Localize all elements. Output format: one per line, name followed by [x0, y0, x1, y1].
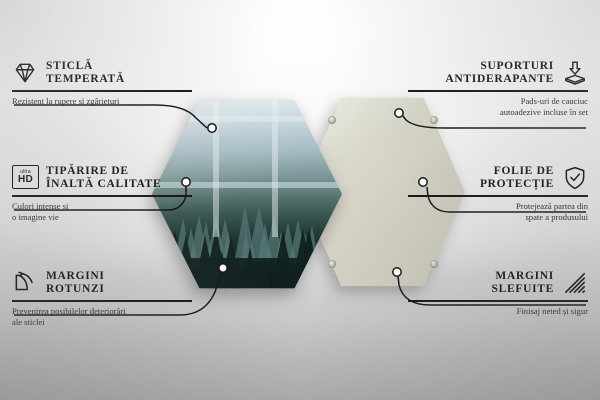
feature-divider — [12, 195, 192, 197]
feature-description: Culori intense și o imagine vie — [12, 201, 192, 223]
diamond-icon — [12, 60, 38, 86]
feature-header: MARGINI SLEFUITE — [408, 270, 588, 296]
connector-right-1 — [403, 116, 586, 128]
feature-description: Pads-uri de cauciuc autoadezive incluse … — [408, 96, 588, 118]
infographic-canvas: STICLĂ TEMPERATĂ Rezistent la rupere și … — [0, 0, 600, 400]
feature-divider — [408, 90, 588, 92]
feature-callout-antislip-pads: SUPORTURI ANTIDERAPANTE Pads-uri de cauc… — [408, 60, 588, 118]
feature-callout-rounded-edges: MARGINI ROTUNZI Prevenirea posibilelor d… — [12, 270, 192, 328]
connector-left-1 — [14, 105, 207, 128]
feature-callout-tempered-glass: STICLĂ TEMPERATĂ Rezistent la rupere și … — [12, 60, 192, 107]
connector-dot-left-1 — [208, 124, 216, 132]
feature-header: ultra HD TIPĂRIRE DE ÎNALTĂ CALITATE — [12, 165, 192, 191]
feature-header: SUPORTURI ANTIDERAPANTE — [408, 60, 588, 86]
ultra-hd-badge-icon: ultra HD — [12, 165, 38, 191]
feature-title: SUPORTURI ANTIDERAPANTE — [445, 60, 554, 86]
feature-description: Rezistent la rupere și zgârieturi — [12, 96, 192, 107]
feature-title: STICLĂ TEMPERATĂ — [46, 60, 125, 86]
feature-description: Protejează partea din spate a produsului — [408, 201, 588, 223]
feature-title: MARGINI SLEFUITE — [492, 270, 554, 296]
feature-callout-protective-film: FOLIE DE PROTECȚIE Protejează partea din… — [408, 165, 588, 223]
rounded-corner-icon — [12, 270, 38, 296]
feature-callout-hd-printing: ultra HD TIPĂRIRE DE ÎNALTĂ CALITATE Cul… — [12, 165, 192, 223]
feature-description: Finisaj neted și sigur — [408, 306, 588, 317]
feature-divider — [408, 300, 588, 302]
feature-divider — [408, 195, 588, 197]
feature-divider — [12, 90, 192, 92]
feature-header: MARGINI ROTUNZI — [12, 270, 192, 296]
connector-dot-right-3 — [393, 268, 401, 276]
feature-title: TIPĂRIRE DE ÎNALTĂ CALITATE — [46, 165, 161, 191]
feature-callout-polished-edges: MARGINI SLEFUITE Finisaj neted și sigur — [408, 270, 588, 317]
shield-check-icon — [562, 165, 588, 191]
feature-title: FOLIE DE PROTECȚIE — [480, 165, 554, 191]
connector-dot-left-3 — [219, 264, 227, 272]
feature-title: MARGINI ROTUNZI — [46, 270, 105, 296]
feature-divider — [12, 300, 192, 302]
feature-description: Prevenirea posibilelor deteriorări ale s… — [12, 306, 192, 328]
polished-edge-icon — [562, 270, 588, 296]
press-pad-icon — [562, 60, 588, 86]
feature-header: STICLĂ TEMPERATĂ — [12, 60, 192, 86]
connector-dot-right-1 — [395, 109, 403, 117]
feature-header: FOLIE DE PROTECȚIE — [408, 165, 588, 191]
